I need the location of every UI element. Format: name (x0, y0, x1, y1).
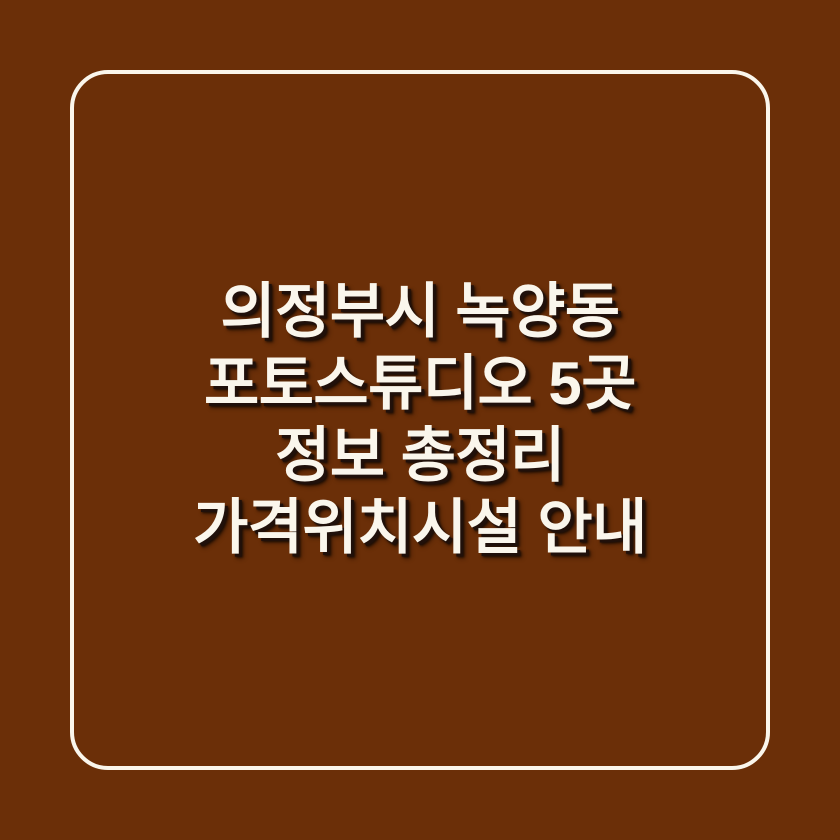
headline-line-4: 가격위치시설 안내 (86, 492, 754, 564)
headline-line-1: 의정부시 녹양동 (86, 276, 754, 348)
headline-block: 의정부시 녹양동 포토스튜디오 5곳 정보 총정리 가격위치시설 안내 (0, 0, 840, 840)
thumbnail-card: 의정부시 녹양동 포토스튜디오 5곳 정보 총정리 가격위치시설 안내 (0, 0, 840, 840)
headline-line-3: 정보 총정리 (86, 420, 754, 492)
headline-line-2: 포토스튜디오 5곳 (86, 348, 754, 420)
